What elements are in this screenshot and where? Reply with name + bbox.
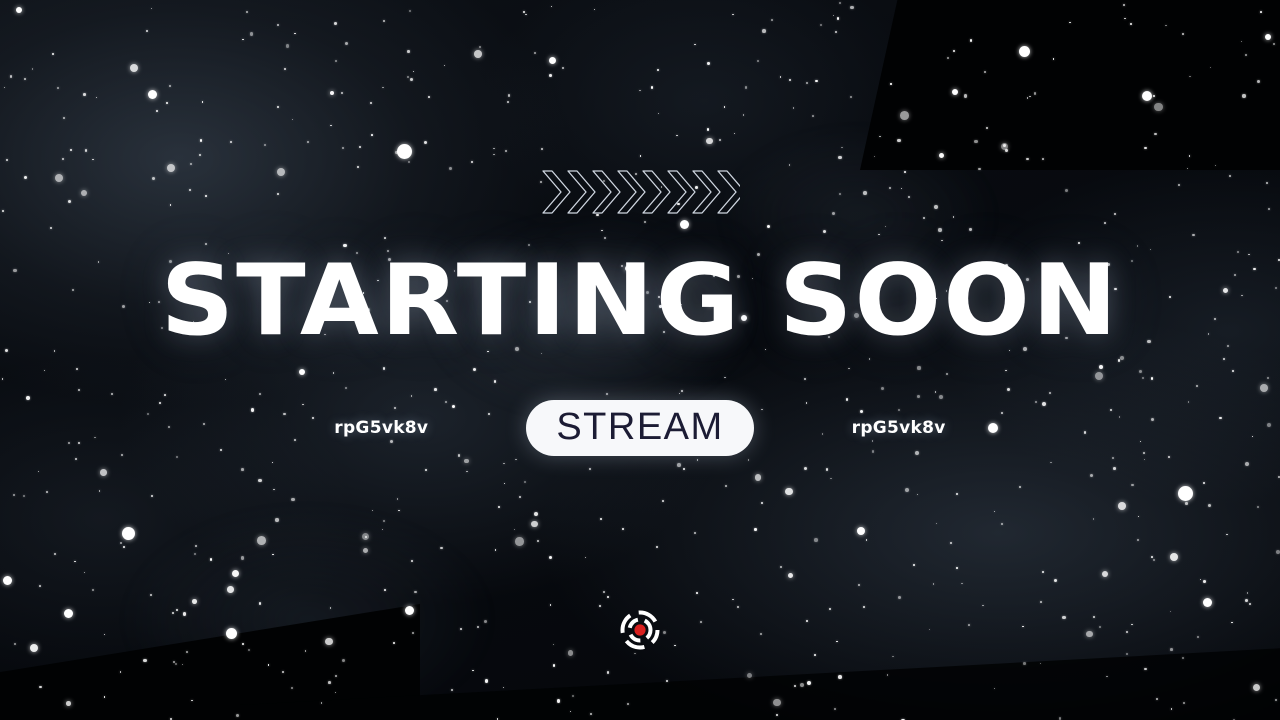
stream-overlay-stage: STARTING SOON rpG5vk8v STREAM rpG5vk8v [0,0,1280,720]
badge-row: rpG5vk8v STREAM rpG5vk8v [0,400,1280,456]
record-target-logo-icon [618,608,662,652]
page-title: STARTING SOON [0,252,1280,350]
overlay-content: STARTING SOON rpG5vk8v STREAM rpG5vk8v [0,0,1280,720]
left-handle-label: rpG5vk8v [236,418,526,438]
status-badge: STREAM [526,400,753,456]
right-handle-label: rpG5vk8v [754,418,1044,438]
chevron-arrow-row-icon [540,168,740,216]
